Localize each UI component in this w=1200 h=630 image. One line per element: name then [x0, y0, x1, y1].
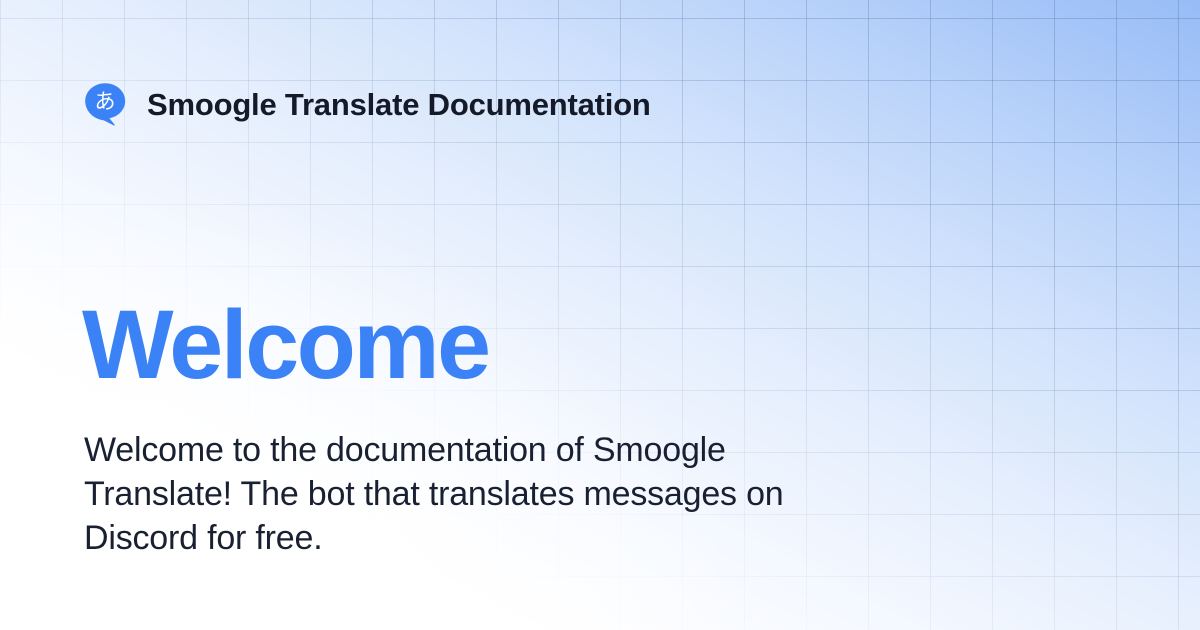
card-content: あ Smoogle Translate Documentation Welcom…: [0, 0, 1200, 630]
brand-header: あ Smoogle Translate Documentation: [84, 82, 651, 126]
page-title: Welcome: [82, 296, 489, 393]
brand-title: Smoogle Translate Documentation: [147, 89, 651, 120]
open-graph-card: あ Smoogle Translate Documentation Welcom…: [0, 0, 1200, 630]
svg-text:あ: あ: [95, 90, 116, 114]
speech-bubble-hiragana-a-icon: あ: [84, 82, 128, 126]
page-description: Welcome to the documentation of Smoogle …: [84, 428, 874, 560]
